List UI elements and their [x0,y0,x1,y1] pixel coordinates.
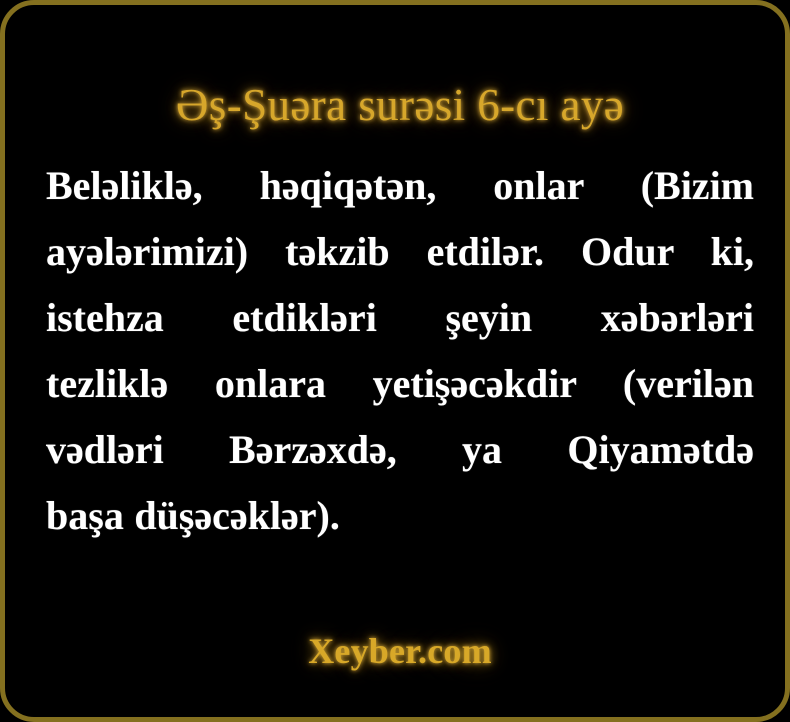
verse-card: Əş-Şuəra surəsi 6-cı ayə Beləliklə, həqi… [0,0,790,722]
verse-line: istehza etdikləri şeyin xəbərləri [46,285,754,351]
site-watermark: Xeyber.com [5,630,790,672]
verse-line: tezliklə onlara yetişəcəkdir (verilən [46,351,754,417]
page-title: Əş-Şuəra surəsi 6-cı ayə [5,79,790,131]
verse-line: Beləliklə, həqiqətən, onlar (Bizim [46,153,754,219]
verse-line: ayələrimizi) təkzib etdilər. Odur ki, [46,219,754,285]
verse-line: vədləri Bərzəxdə, ya Qiyamətdə [46,417,754,483]
verse-line: başa düşəcəklər). [46,483,754,549]
verse-text: Beləliklə, həqiqətən, onlar (Bizim ayələ… [46,153,754,549]
